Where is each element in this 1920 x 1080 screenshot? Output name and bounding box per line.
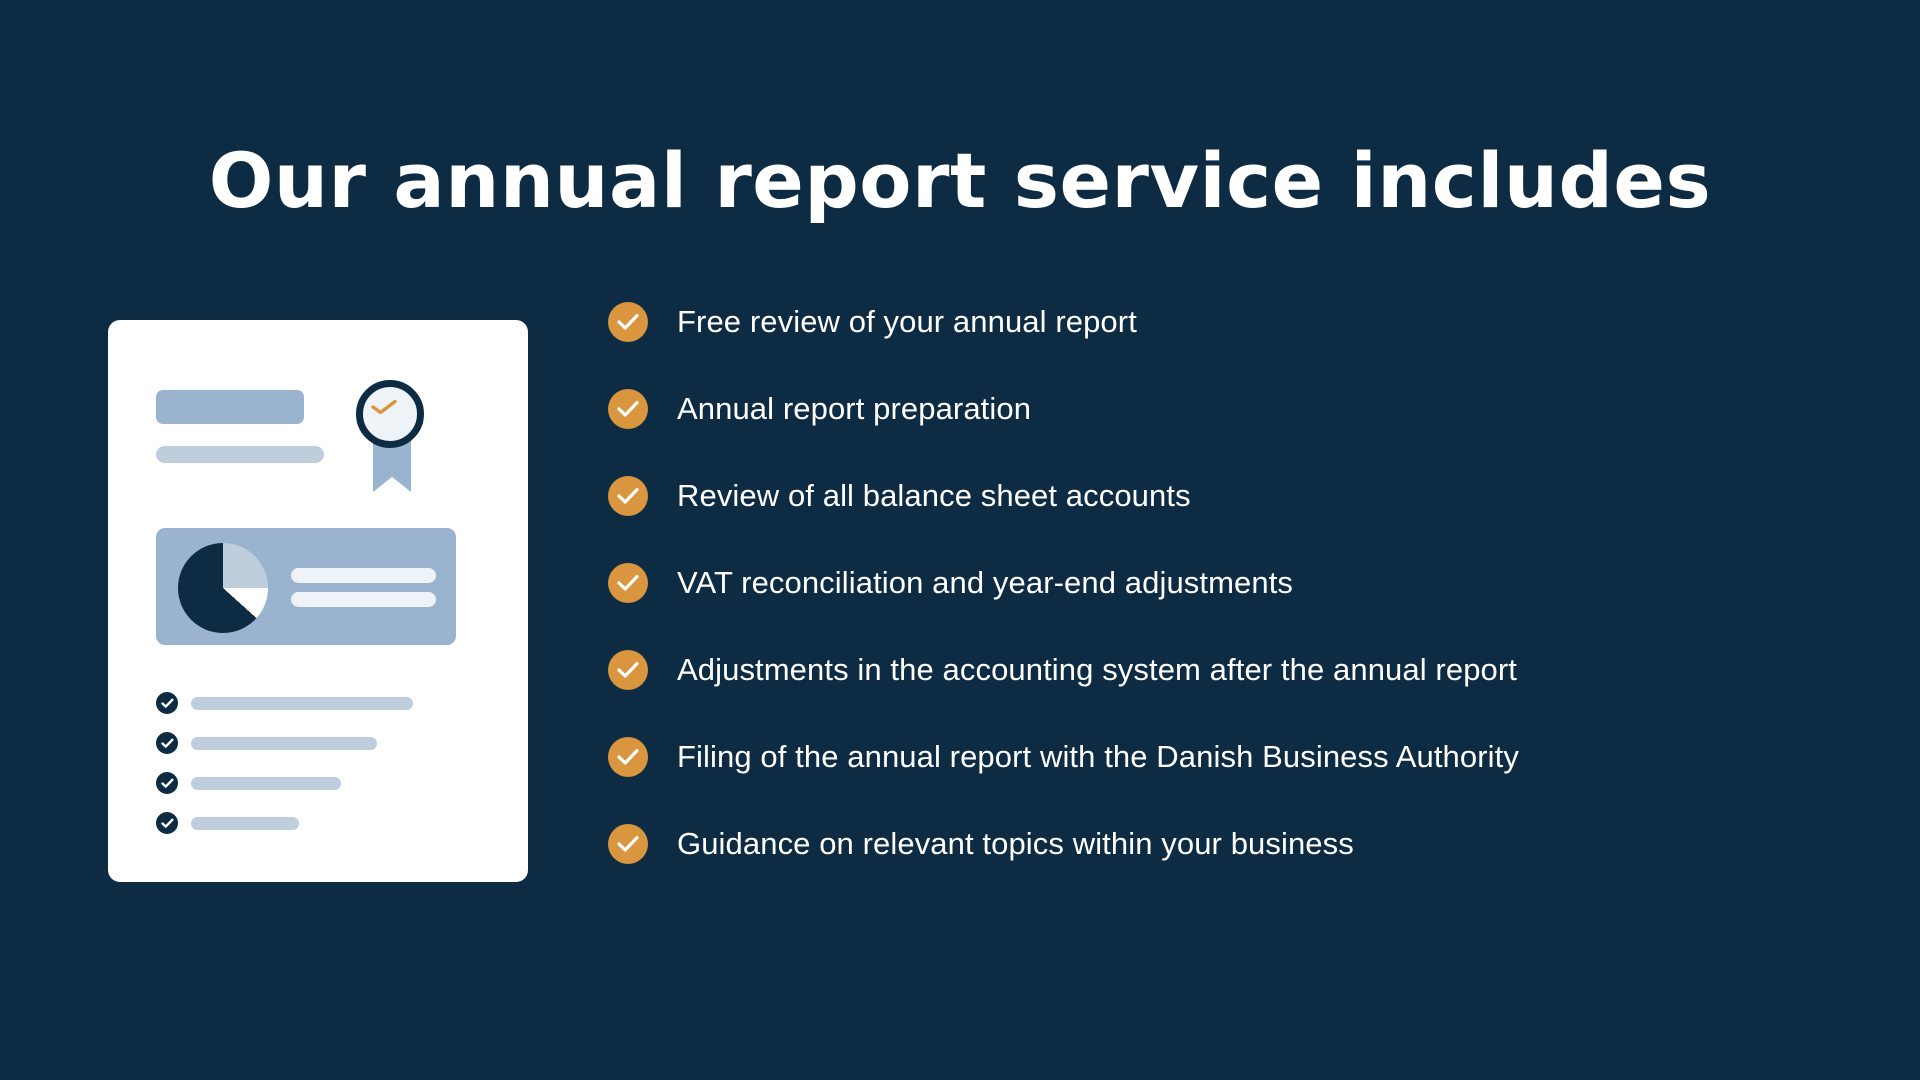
check-circle-icon [608,824,648,864]
feature-item-1: Free review of your annual report [608,300,1868,344]
list-item-bar [191,817,299,830]
check-circle-icon [608,650,648,690]
list-item-bar [191,737,377,750]
feature-label: Annual report preparation [677,387,1031,431]
page-title: Our annual report service includes [0,141,1920,221]
feature-item-2: Annual report preparation [608,387,1868,431]
feature-label: Adjustments in the accounting system aft… [677,648,1517,692]
check-circle-icon [156,732,178,754]
check-icon [371,400,397,414]
service-feature-list: Free review of your annual report Annual… [608,300,1868,866]
pie-chart [178,543,268,633]
check-circle-icon [608,563,648,603]
feature-label: Free review of your annual report [677,300,1137,344]
check-circle-icon [608,302,648,342]
chart-panel [156,528,456,645]
slide-root: Our annual report service includes [0,0,1920,1080]
certified-seal [356,380,456,500]
chart-label-line [291,568,436,583]
chart-label-line [291,592,436,607]
check-circle-icon [608,737,648,777]
check-circle-icon [156,812,178,834]
feature-label: VAT reconciliation and year-end adjustme… [677,561,1293,605]
check-circle-icon [156,772,178,794]
feature-item-4: VAT reconciliation and year-end adjustme… [608,561,1868,605]
feature-label: Review of all balance sheet accounts [677,474,1191,518]
feature-item-3: Review of all balance sheet accounts [608,474,1868,518]
feature-item-5: Adjustments in the accounting system aft… [608,648,1868,692]
document-title-placeholder [156,390,304,424]
annual-report-illustration [108,320,528,882]
check-circle-icon [156,692,178,714]
feature-label: Filing of the annual report with the Dan… [677,735,1519,779]
document-subtitle-placeholder [156,446,324,463]
check-circle-icon [608,389,648,429]
list-item-bar [191,777,341,790]
feature-item-6: Filing of the annual report with the Dan… [608,735,1868,779]
feature-label: Guidance on relevant topics within your … [677,822,1354,866]
check-circle-icon [608,476,648,516]
list-item-bar [191,697,413,710]
feature-item-7: Guidance on relevant topics within your … [608,822,1868,866]
seal-ring [356,380,424,448]
